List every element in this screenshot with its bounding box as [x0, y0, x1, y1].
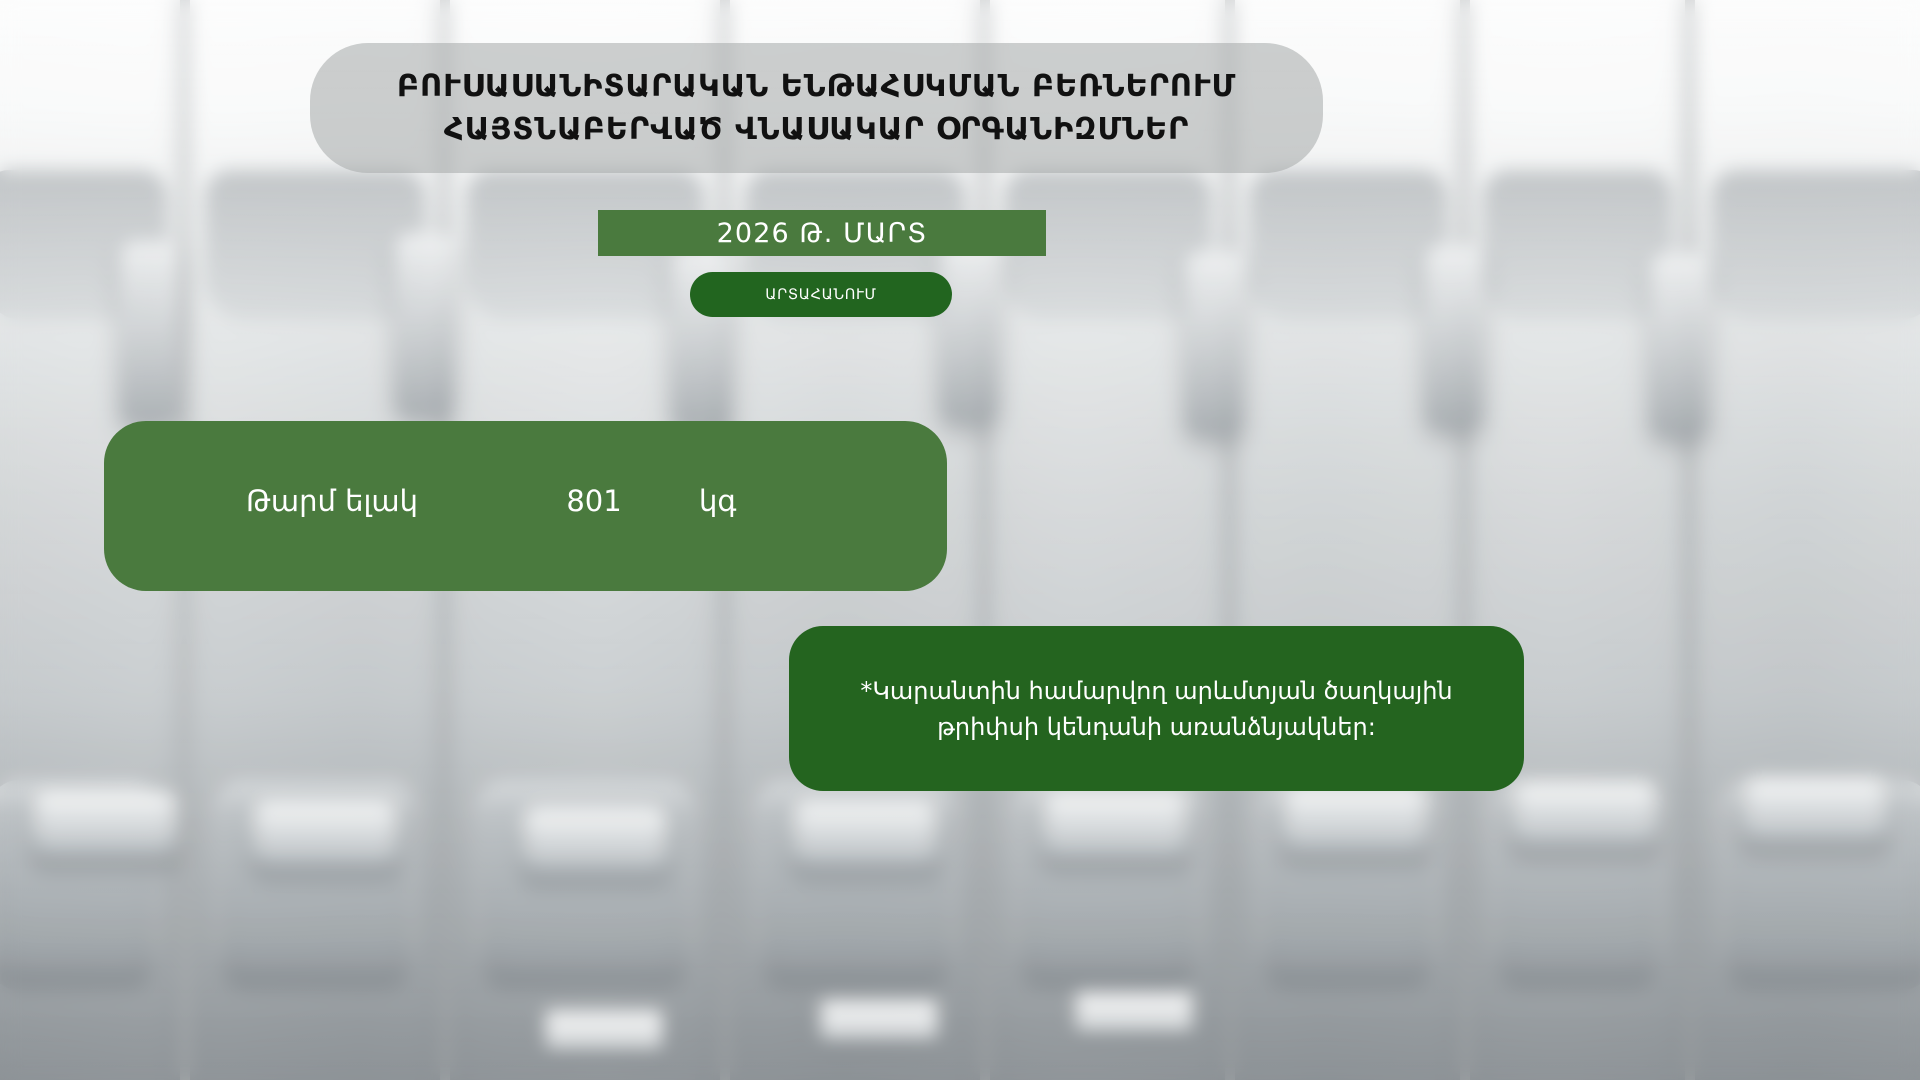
- category-button-label: ԱՐՏԱՀԱՆՈՒՄ: [765, 287, 876, 303]
- footnote-card: *Կարանտին համարվող արևմտյան ծաղկային թրի…: [789, 626, 1524, 791]
- page-title-line-2: ՀԱՅՏՆԱԲԵՐՎԱԾ ՎՆԱՍԱԿԱՐ ՕՐԳԱՆԻԶՄՆԵՐ: [444, 111, 1189, 148]
- infographic-slide: ԲՈՒՍԱՍԱՆԻՏԱՐԱԿԱՆ ԵՆԹԱՀՍԿՄԱՆ ԲԵՌՆԵՐՈՒՄ ՀԱ…: [0, 0, 1920, 1080]
- page-title-line-1: ԲՈՒՍԱՍԱՆԻՏԱՐԱԿԱՆ ԵՆԹԱՀՍԿՄԱՆ ԲԵՌՆԵՐՈՒՄ: [397, 68, 1236, 105]
- table-row: Թարմ ելակ 801 կգ: [104, 473, 947, 529]
- footnote-text: *Կարանտին համարվող արևմտյան ծաղկային թրի…: [829, 673, 1484, 745]
- date-banner-label: 2026 Թ. ՄԱՐՏ: [717, 218, 928, 249]
- row-unit-label: կգ: [699, 484, 736, 518]
- row-commodity-name: Թարմ ելակ: [246, 484, 418, 518]
- category-button-export[interactable]: ԱՐՏԱՀԱՆՈՒՄ: [690, 272, 952, 317]
- date-banner: 2026 Թ. ՄԱՐՏ: [598, 210, 1046, 256]
- title-card: ԲՈՒՍԱՍԱՆԻՏԱՐԱԿԱՆ ԵՆԹԱՀՍԿՄԱՆ ԲԵՌՆԵՐՈՒՄ ՀԱ…: [310, 43, 1323, 173]
- data-card: Թարմ ելակ 801 կգ: [104, 421, 947, 591]
- row-quantity-value: 801: [524, 484, 664, 518]
